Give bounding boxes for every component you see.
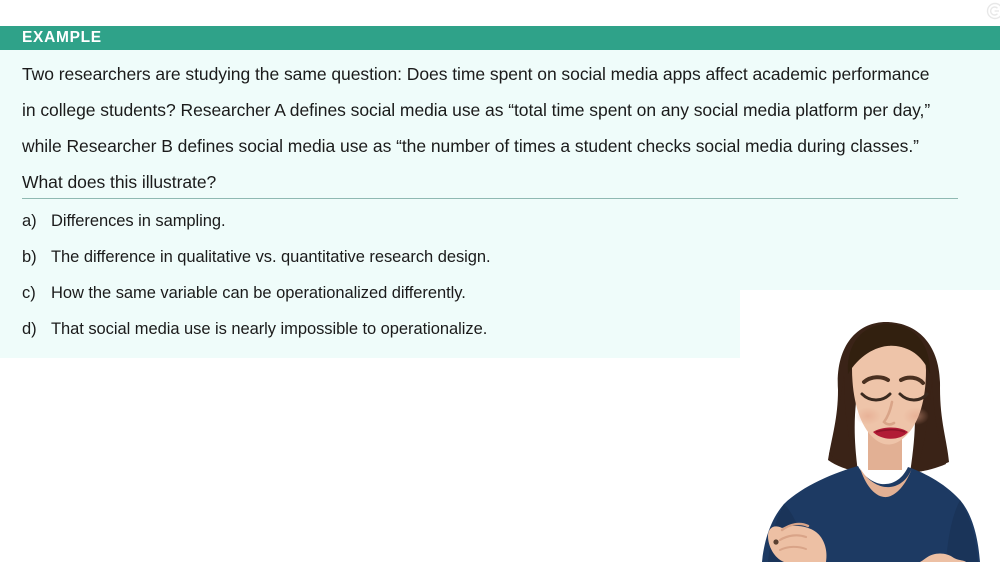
circle-badge-icon	[986, 2, 1000, 20]
answer-letter: c)	[22, 284, 51, 303]
question-line: What does this illustrate?	[22, 164, 962, 200]
answer-option-b[interactable]: b) The difference in qualitative vs. qua…	[22, 248, 962, 284]
answer-text: That social media use is nearly impossib…	[51, 320, 487, 339]
answer-letter: b)	[22, 248, 51, 267]
answer-letter: d)	[22, 320, 51, 339]
answer-text: Differences in sampling.	[51, 212, 226, 231]
example-header-bar: EXAMPLE	[0, 26, 1000, 50]
answer-text: The difference in qualitative vs. quanti…	[51, 248, 491, 267]
example-header-label: EXAMPLE	[22, 29, 102, 47]
question-line: in college students? Researcher A define…	[22, 92, 962, 128]
question-line: while Researcher B defines social media …	[22, 128, 962, 164]
top-white-strip	[0, 0, 1000, 26]
answer-option-a[interactable]: a) Differences in sampling.	[22, 212, 962, 248]
question-line: Two researchers are studying the same qu…	[22, 56, 962, 92]
answer-letter: a)	[22, 212, 51, 231]
answer-text: How the same variable can be operational…	[51, 284, 466, 303]
presenter-video-icon	[740, 290, 1000, 562]
question-answers-divider	[22, 198, 958, 199]
question-block: Two researchers are studying the same qu…	[22, 56, 962, 200]
